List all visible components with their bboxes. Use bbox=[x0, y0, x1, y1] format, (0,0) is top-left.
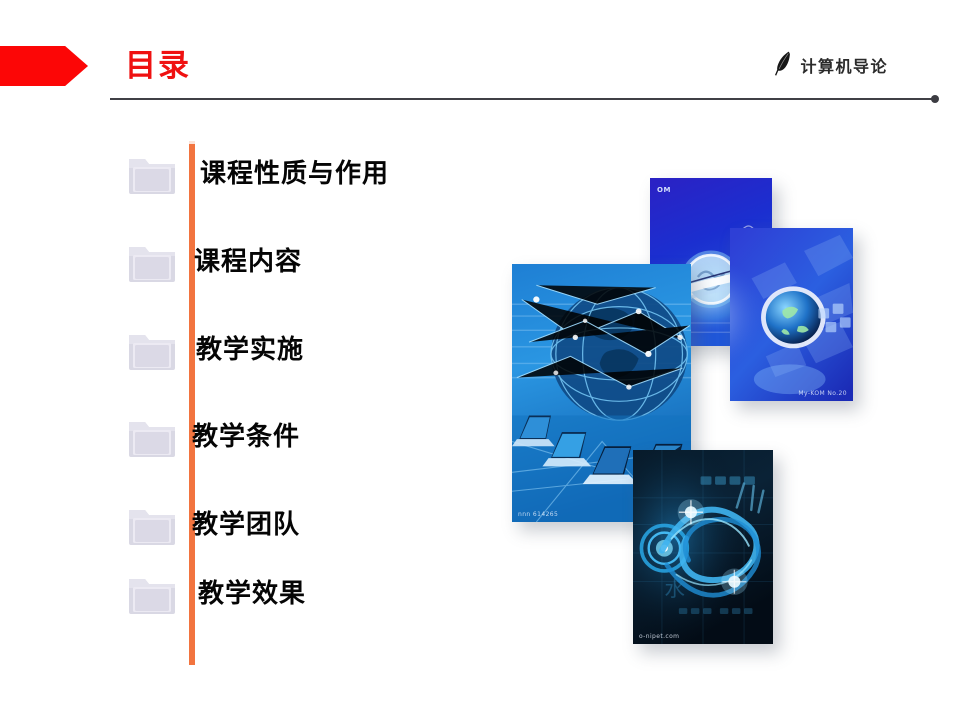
photo-caption: o-nipet.com bbox=[639, 633, 679, 640]
slide-root: 目录 计算机导论 课程性质与作用 bbox=[0, 0, 960, 720]
folder-icon bbox=[126, 327, 178, 373]
photo-globe-diamonds: My-KOM No.20 bbox=[730, 228, 853, 401]
toc-item-label: 教学团队 bbox=[192, 510, 300, 540]
feather-quill-icon bbox=[774, 51, 791, 78]
toc-item-teaching-results[interactable]: 教学效果 bbox=[126, 563, 306, 625]
brand-mark: 计算机导论 bbox=[774, 51, 888, 78]
toc-item-course-nature[interactable]: 课程性质与作用 bbox=[126, 143, 389, 205]
photo-image: 水 bbox=[633, 450, 773, 644]
svg-text:水: 水 bbox=[664, 577, 685, 601]
toc-item-teaching-conditions[interactable]: 教学条件 bbox=[126, 406, 300, 468]
toc-item-teaching-implementation[interactable]: 教学实施 bbox=[126, 319, 304, 381]
photo-collage: OM bbox=[505, 160, 960, 640]
toc-item-teaching-team[interactable]: 教学团队 bbox=[126, 494, 300, 556]
folder-icon bbox=[126, 414, 178, 460]
toc-item-label: 课程内容 bbox=[194, 247, 302, 277]
photo-image bbox=[730, 228, 853, 401]
header-divider-dot bbox=[931, 95, 939, 103]
folder-icon bbox=[126, 239, 178, 285]
toc-item-course-content[interactable]: 课程内容 bbox=[126, 231, 302, 293]
folder-icon bbox=[126, 151, 178, 197]
folder-icon bbox=[126, 502, 178, 548]
toc-item-label: 教学效果 bbox=[198, 579, 306, 609]
brand-label: 计算机导论 bbox=[800, 53, 888, 77]
photo-blue-helix: 水 o-nipet.com bbox=[633, 450, 773, 644]
folder-icon bbox=[126, 571, 178, 617]
toc-item-label: 教学实施 bbox=[196, 335, 304, 365]
toc-item-label: 教学条件 bbox=[192, 422, 300, 452]
toc-list: 课程性质与作用 课程内容 教 bbox=[0, 0, 470, 720]
photo-tag: OM bbox=[657, 186, 671, 194]
photo-caption: My-KOM No.20 bbox=[798, 390, 847, 397]
toc-item-label: 课程性质与作用 bbox=[200, 159, 389, 189]
photo-caption: nnn 614265 bbox=[518, 511, 558, 518]
